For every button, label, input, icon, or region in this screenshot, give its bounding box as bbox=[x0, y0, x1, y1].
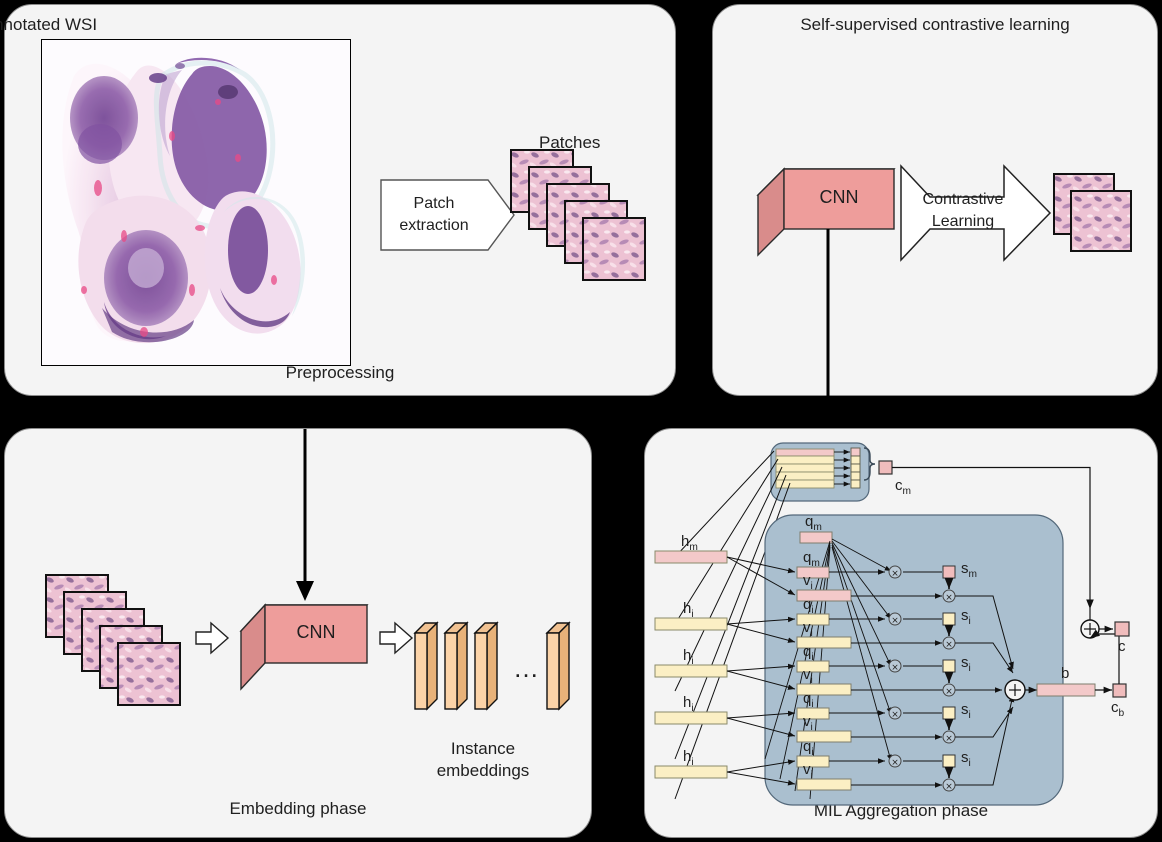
q-label-row-2: qi bbox=[803, 643, 814, 663]
v-label-row-3: vi bbox=[803, 713, 813, 733]
svg-text:⨯: ⨯ bbox=[891, 757, 899, 767]
panel-self-supervised: Self-supervised contrastive learning CNN… bbox=[712, 4, 1158, 396]
panel-mil-aggregation: MIL Aggregation phase bbox=[644, 428, 1158, 838]
s-label-row-3: si bbox=[961, 701, 971, 721]
embedding-ellipsis: … bbox=[513, 653, 542, 684]
svg-text:⨯: ⨯ bbox=[945, 781, 953, 791]
cm-module bbox=[771, 443, 892, 501]
c-label: c bbox=[1118, 638, 1126, 655]
svg-text:⨯: ⨯ bbox=[891, 568, 899, 578]
s-label-row-4: si bbox=[961, 749, 971, 769]
qm-query-bar bbox=[800, 532, 832, 543]
h-label-row-3: hi bbox=[683, 694, 694, 714]
c-final-score bbox=[1115, 622, 1129, 636]
s-score bbox=[943, 613, 955, 625]
v-label-row-4: vi bbox=[803, 761, 813, 781]
preprocessing-footer: Preprocessing bbox=[5, 363, 675, 383]
embedding-bar bbox=[445, 623, 467, 709]
instance-embedding-bars: … bbox=[413, 619, 583, 729]
embedding-patch-stack bbox=[45, 574, 195, 709]
instance-embeddings-label-2: embeddings bbox=[413, 761, 553, 781]
embedding-bar bbox=[415, 623, 437, 709]
s-label-row-1: si bbox=[961, 607, 971, 627]
q-label-row-1: qi bbox=[803, 596, 814, 616]
svg-text:⨯: ⨯ bbox=[945, 733, 953, 743]
h-label-row-4: hi bbox=[683, 748, 694, 768]
q-label-row-4: qi bbox=[803, 738, 814, 758]
contrastive-label-2: Learning bbox=[918, 213, 1008, 231]
s-label-row-0: sm bbox=[961, 560, 977, 580]
cb-label: cb bbox=[1111, 699, 1124, 719]
h-label-row-2: hi bbox=[683, 647, 694, 667]
preprocessing-title: Unannotated WSI bbox=[0, 15, 365, 35]
h-label-row-0: hm bbox=[681, 533, 698, 553]
v-label-row-2: vi bbox=[803, 666, 813, 686]
embedding-bar bbox=[475, 623, 497, 709]
v-label-row-1: vi bbox=[803, 619, 813, 639]
q-label-row-0: qm bbox=[803, 549, 820, 569]
patch-extraction-label-1: Patch bbox=[380, 195, 488, 213]
instance-embeddings-label-1: Instance bbox=[413, 739, 553, 759]
embedding-cnn-label: CNN bbox=[265, 622, 367, 643]
s-score bbox=[943, 660, 955, 672]
contrastive-label-1: Contrastive bbox=[918, 191, 1008, 209]
cb-score bbox=[1113, 684, 1126, 697]
ssl-output-patches bbox=[1053, 173, 1143, 263]
s-label-row-2: si bbox=[961, 654, 971, 674]
svg-text:⨯: ⨯ bbox=[891, 709, 899, 719]
panel-preprocessing: Unannotated WSI Preprocessing bbox=[4, 4, 676, 396]
s-score bbox=[943, 566, 955, 578]
svg-text:⨯: ⨯ bbox=[945, 686, 953, 696]
h-label-row-1: hi bbox=[683, 600, 694, 620]
s-score bbox=[943, 755, 955, 767]
q-label-row-3: qi bbox=[803, 690, 814, 710]
patch-extraction-arrow: Patch extraction bbox=[380, 179, 515, 251]
svg-text:⨯: ⨯ bbox=[891, 615, 899, 625]
b-bag-vector bbox=[1037, 684, 1095, 696]
panel-embedding: Embedding phase CNN bbox=[4, 428, 592, 838]
svg-text:⨯: ⨯ bbox=[891, 662, 899, 672]
embedding-bar bbox=[547, 623, 569, 709]
s-score bbox=[943, 707, 955, 719]
qm-top-label: qm bbox=[805, 513, 822, 533]
svg-text:⨯: ⨯ bbox=[945, 592, 953, 602]
embedding-cnn-box: CNN bbox=[239, 597, 369, 697]
patch-stack bbox=[510, 149, 660, 284]
cm-label: cm bbox=[895, 477, 911, 497]
contrastive-learning-arrow: Contrastive Learning bbox=[900, 165, 1052, 265]
svg-text:⨯: ⨯ bbox=[945, 639, 953, 649]
v-label-row-0: vi bbox=[803, 572, 813, 592]
b-label: b bbox=[1061, 665, 1069, 682]
patch-extraction-label-2: extraction bbox=[380, 217, 488, 235]
wsi-slide-image bbox=[41, 39, 351, 366]
